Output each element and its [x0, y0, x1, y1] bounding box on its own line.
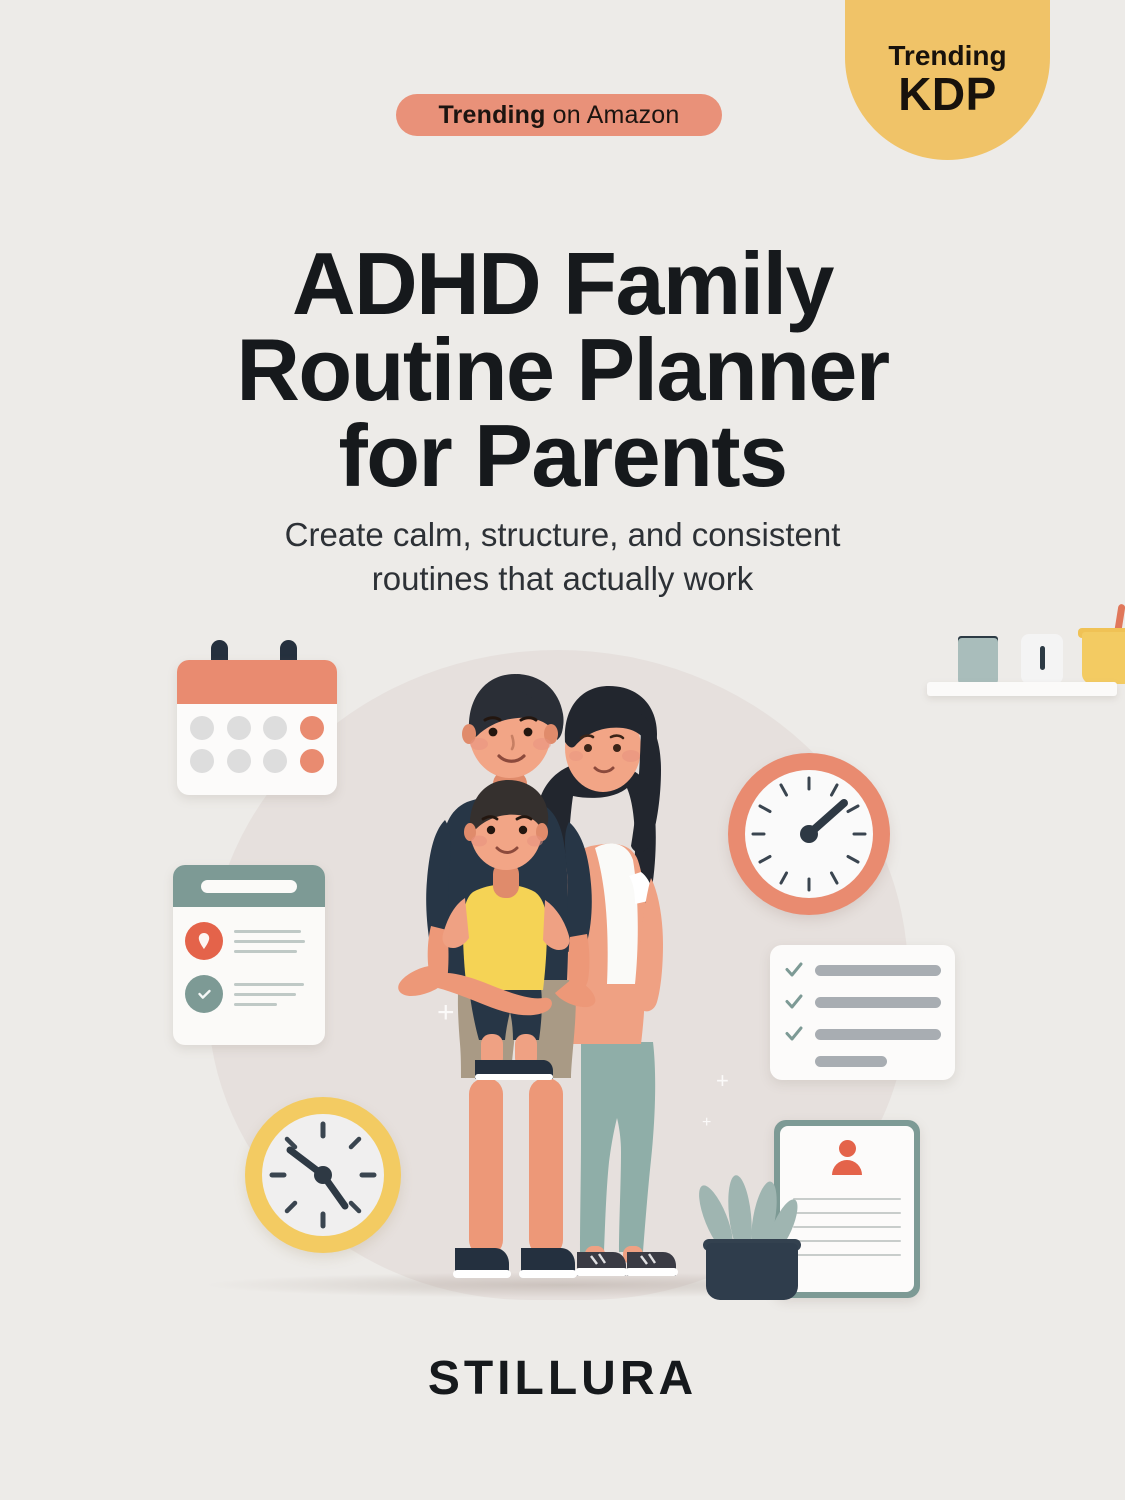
title-line-1: ADHD Family	[60, 241, 1065, 327]
trending-kdp-badge: Trending KDP	[845, 0, 1050, 160]
badge-amazon-light: on Amazon	[553, 101, 680, 130]
avatar-body	[832, 1160, 862, 1175]
calendar-day-dot-highlight	[300, 716, 324, 740]
note-line	[234, 993, 296, 996]
person-avatar-icon	[830, 1140, 864, 1174]
title-line-3: for Parents	[60, 413, 1065, 499]
profile-line	[793, 1212, 901, 1214]
profile-line	[793, 1198, 901, 1200]
check-icon	[784, 960, 804, 980]
badge-kdp-top: Trending	[888, 42, 1006, 71]
note-line	[234, 940, 305, 943]
calendar-day-dot	[263, 716, 287, 740]
calendar-day-dot	[190, 716, 214, 740]
wall-clock-yellow-icon	[245, 1097, 401, 1253]
subtitle-line-2: routines that actually work	[160, 557, 965, 601]
clock-face	[745, 770, 873, 898]
calendar-day-dot	[190, 749, 214, 773]
shelf-board	[927, 682, 1117, 696]
badge-amazon-strong: Trending	[438, 101, 545, 130]
note-card-header	[173, 865, 325, 907]
trending-on-amazon-badge: Trending on Amazon	[396, 94, 722, 136]
calendar-header	[177, 660, 337, 704]
note-card-lines	[234, 983, 313, 1006]
check-icon	[784, 992, 804, 1012]
profile-line	[793, 1254, 901, 1256]
calendar-day-dot	[227, 716, 251, 740]
note-card-row	[173, 975, 325, 1013]
calendar-day-dot	[227, 749, 251, 773]
clock-face	[262, 1114, 384, 1236]
calendar-day-dot	[263, 749, 287, 773]
wall-clock-coral-icon	[728, 753, 890, 915]
location-pin-icon	[185, 922, 223, 960]
note-card-row	[173, 922, 325, 960]
footwear	[453, 1248, 678, 1278]
checklist-row	[784, 992, 941, 1012]
note-line	[234, 1003, 277, 1006]
subtitle-line-1: Create calm, structure, and consistent	[160, 513, 965, 557]
checklist-row	[784, 1056, 941, 1067]
family-routine-illustration: + + + +	[150, 620, 980, 1320]
note-card-lines	[234, 930, 313, 953]
avatar-head	[839, 1140, 856, 1157]
calendar-grid	[177, 704, 337, 785]
note-card-title-pill	[201, 880, 297, 893]
brand-name: STILLURA	[0, 1351, 1125, 1406]
calendar-body	[177, 660, 337, 795]
checklist-card	[770, 945, 955, 1080]
checklist-bar	[815, 997, 941, 1008]
note-line	[234, 930, 301, 933]
wall-calendar-icon	[177, 660, 337, 795]
note-line	[234, 950, 297, 953]
checklist-row	[784, 960, 941, 980]
profile-line	[793, 1226, 901, 1228]
checklist-bar-unchecked	[815, 1056, 887, 1067]
cup-icon	[1082, 632, 1125, 684]
note-card	[173, 865, 325, 1045]
check-circle-icon	[185, 975, 223, 1013]
note-line	[234, 983, 304, 986]
calendar-day-dot-highlight	[300, 749, 324, 773]
cover-subtitle: Create calm, structure, and consistent r…	[0, 513, 1125, 601]
desk-clock-icon	[1021, 634, 1063, 684]
checklist-bar	[815, 965, 941, 976]
check-icon	[784, 1024, 804, 1044]
checklist-row	[784, 1024, 941, 1044]
cover-title: ADHD Family Routine Planner for Parents	[0, 241, 1125, 500]
profile-line	[793, 1240, 901, 1242]
checklist-bar	[815, 1029, 941, 1040]
jar-icon	[958, 638, 998, 684]
title-line-2: Routine Planner	[60, 327, 1065, 413]
family-group-illustration	[395, 650, 725, 1305]
badge-kdp-main: KDP	[898, 70, 997, 118]
book-cover: Trending on Amazon Trending KDP ADHD Fam…	[0, 0, 1125, 1500]
